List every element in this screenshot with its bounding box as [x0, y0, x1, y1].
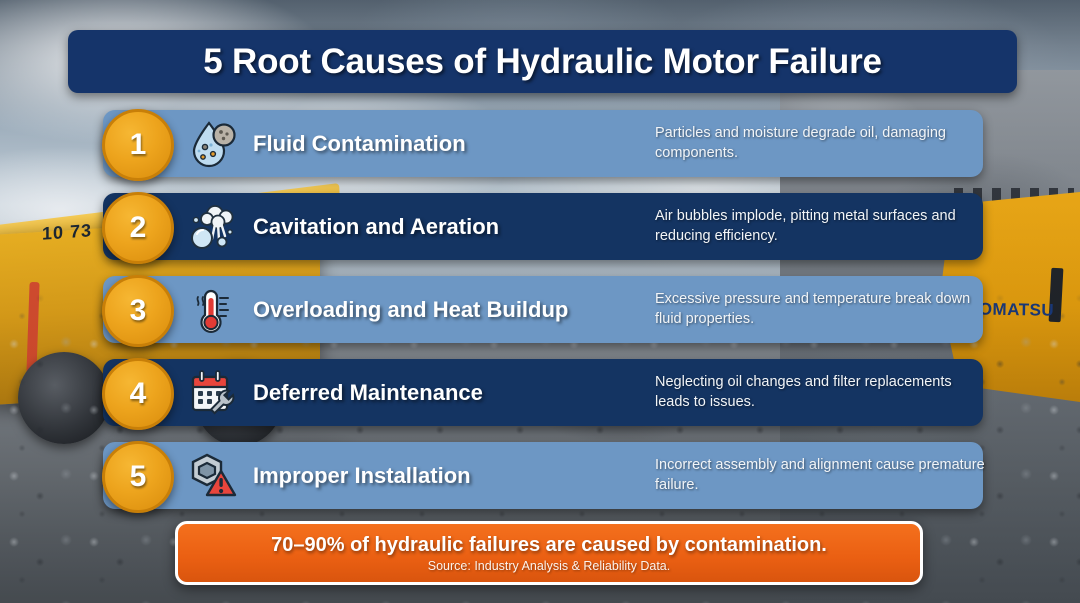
cause-row[interactable]: 3 Overloading and Heat Buildup Excessive…	[103, 276, 983, 343]
cause-row[interactable]: 4 Deferred Maintenance Neglecting oil ch…	[103, 359, 983, 426]
cause-row[interactable]: 2 Cavitation and Aeration Air bubbles im…	[103, 193, 983, 260]
statistic-text: 70–90% of hydraulic failures are caused …	[271, 534, 827, 557]
infographic-canvas: 10 73 KOMATSU 5 Root Causes of Hydraulic…	[0, 0, 1080, 603]
number-badge: 3	[102, 275, 174, 347]
cause-title: Deferred Maintenance	[253, 380, 483, 406]
number-badge: 2	[102, 192, 174, 264]
cause-row[interactable]: 1 Fluid Contamination Particles and mois…	[103, 110, 983, 177]
bubble-burst-icon	[183, 198, 241, 256]
badge-number: 4	[130, 377, 147, 411]
page-title: 5 Root Causes of Hydraulic Motor Failure	[203, 42, 882, 82]
statistic-banner: 70–90% of hydraulic failures are caused …	[175, 521, 923, 585]
contaminated-droplet-icon	[183, 115, 241, 173]
badge-number: 5	[130, 460, 147, 494]
cause-title: Fluid Contamination	[253, 131, 466, 157]
number-badge: 1	[102, 109, 174, 181]
cause-description: Incorrect assembly and alignment cause p…	[655, 456, 985, 494]
cause-title: Cavitation and Aeration	[253, 214, 499, 240]
title-banner: 5 Root Causes of Hydraulic Motor Failure	[68, 30, 1017, 93]
badge-number: 1	[130, 128, 147, 162]
number-badge: 4	[102, 358, 174, 430]
cause-title: Improper Installation	[253, 463, 471, 489]
calendar-wrench-icon	[183, 364, 241, 422]
source-text: Source: Industry Analysis & Reliability …	[428, 559, 670, 573]
badge-number: 2	[130, 211, 147, 245]
number-badge: 5	[102, 441, 174, 513]
badge-number: 3	[130, 294, 147, 328]
cause-description: Particles and moisture degrade oil, dama…	[655, 124, 985, 162]
cause-title: Overloading and Heat Buildup	[253, 297, 568, 323]
cause-description: Air bubbles implode, pitting metal surfa…	[655, 207, 985, 245]
cause-description: Excessive pressure and temperature break…	[655, 290, 985, 328]
thermometer-icon	[183, 281, 241, 339]
hex-nut-warning-icon	[183, 447, 241, 505]
cause-row[interactable]: 5 Improper Installation Incorrect assemb…	[103, 442, 983, 509]
cause-description: Neglecting oil changes and filter replac…	[655, 373, 985, 411]
